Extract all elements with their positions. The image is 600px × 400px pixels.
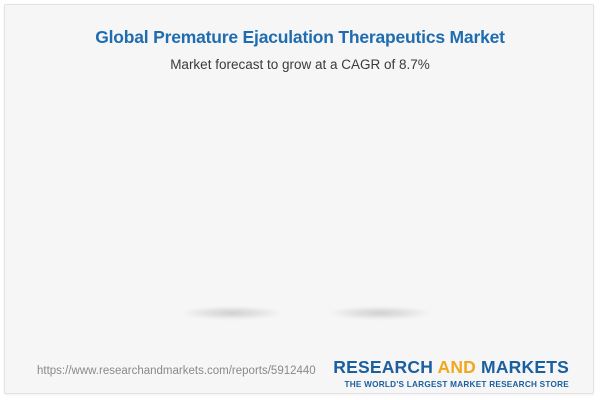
bar-chart-plot: USD 2.46 Billion 2023 USD 4.06 Billion	[5, 5, 594, 350]
source-url-link[interactable]: https://www.researchandmarkets.com/repor…	[37, 365, 316, 377]
logo-word-and: AND	[437, 357, 476, 377]
chart-card: Global Premature Ejaculation Therapeutic…	[4, 4, 594, 394]
logo-wordmark: RESEARCH AND MARKETS	[333, 357, 569, 378]
research-and-markets-logo[interactable]: RESEARCH AND MARKETS THE WORLD'S LARGEST…	[333, 357, 569, 389]
chart-footer: https://www.researchandmarkets.com/repor…	[5, 349, 594, 393]
bar-shadow	[328, 306, 432, 320]
logo-word-markets: MARKETS	[476, 357, 569, 377]
logo-word-research: RESEARCH	[333, 357, 437, 377]
logo-tagline: THE WORLD'S LARGEST MARKET RESEARCH STOR…	[333, 380, 569, 389]
bar-shadow	[180, 306, 284, 320]
